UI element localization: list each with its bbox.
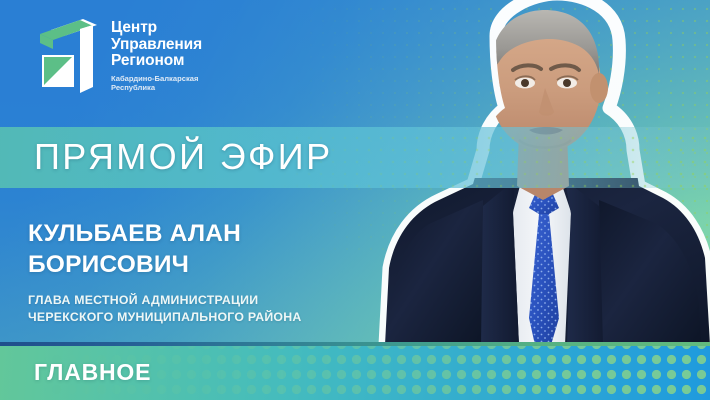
guest-role-line-1: ГЛАВА МЕСТНОЙ АДМИНИСТРАЦИИ — [28, 292, 338, 309]
logo-subtitle-line-2: Республика — [111, 83, 202, 92]
guest-name-line-2: БОРИСОВИЧ — [28, 249, 328, 280]
channel-logo: Центр Управления Регионом Кабардино-Балк… — [34, 17, 202, 95]
guest-name-line-1: КУЛЬБАЕВ АЛАН — [28, 218, 328, 249]
live-badge-label: ПРЯМОЙ ЭФИР — [34, 134, 333, 179]
channel-logo-text: Центр Управления Регионом Кабардино-Балк… — [111, 17, 202, 92]
logo-title-line-1: Центр — [111, 20, 202, 37]
logo-title-line-3: Регионом — [111, 53, 202, 70]
guest-name-block: КУЛЬБАЕВ АЛАН БОРИСОВИЧ — [28, 218, 328, 280]
guest-role-line-2: ЧЕРЕКСКОГО МУНИЦИПАЛЬНОГО РАЙОНА — [28, 309, 338, 326]
broadcast-lower-third-frame: Центр Управления Регионом Кабардино-Балк… — [0, 0, 710, 400]
logo-subtitle-line-1: Кабардино-Балкарская — [111, 74, 202, 83]
ticker-label: ГЛАВНОЕ — [34, 358, 151, 387]
logo-title-line-2: Управления — [111, 37, 202, 54]
isometric-cube-arrow-logo-icon — [34, 17, 100, 95]
guest-role-block: ГЛАВА МЕСТНОЙ АДМИНИСТРАЦИИ ЧЕРЕКСКОГО М… — [28, 292, 338, 325]
